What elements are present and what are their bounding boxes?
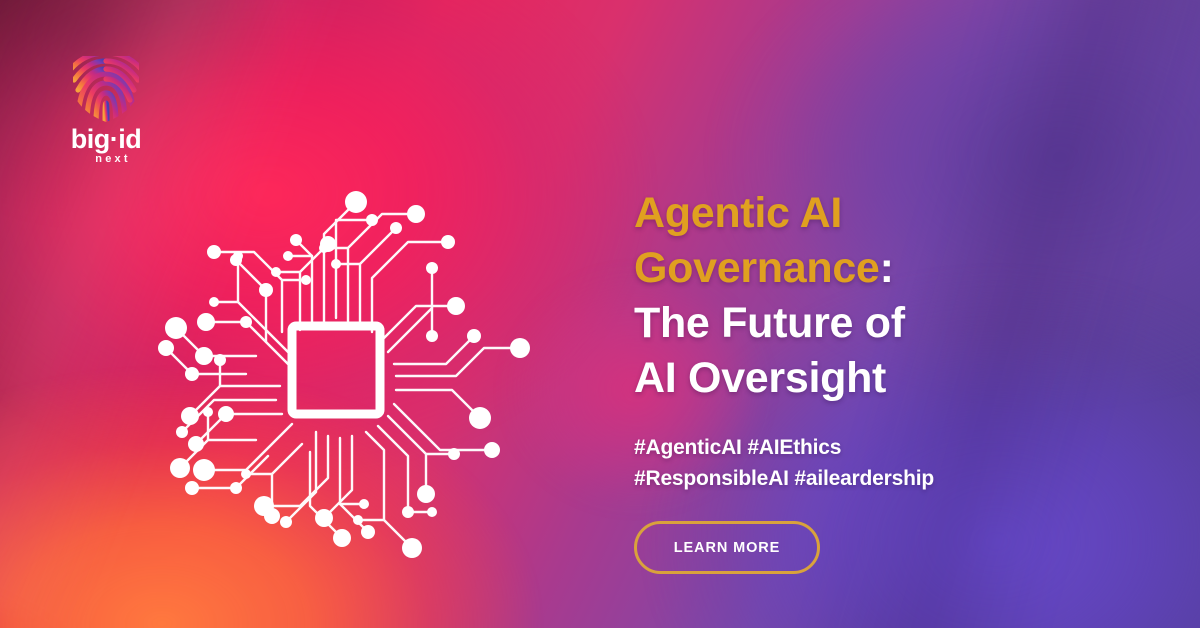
headline-line-3: The Future of bbox=[634, 296, 1104, 351]
headline-line-2: Governance: bbox=[634, 241, 1104, 296]
bigid-next-wordmark: next bbox=[48, 153, 164, 167]
social-banner: big·id next AI bbox=[0, 0, 1200, 628]
headline: Agentic AI Governance: The Future of AI … bbox=[634, 186, 1104, 406]
content-column: Agentic AI Governance: The Future of AI … bbox=[634, 186, 1104, 574]
headline-line-1-text: Agentic AI bbox=[634, 189, 842, 237]
bigid-wordmark: big·id bbox=[48, 126, 164, 153]
headline-colon: : bbox=[880, 244, 894, 292]
circuit-brain-graphic: AI bbox=[96, 160, 576, 580]
headline-line-3-text: The Future of bbox=[634, 299, 905, 347]
ai-chip-outline bbox=[292, 326, 380, 414]
headline-line-2-text: Governance bbox=[634, 244, 880, 292]
headline-line-4: AI Oversight bbox=[634, 351, 1104, 406]
learn-more-button[interactable]: LEARN MORE bbox=[634, 521, 820, 574]
bigid-logo[interactable]: big·id next bbox=[48, 52, 164, 164]
headline-line-4-text: AI Oversight bbox=[634, 354, 886, 402]
hashtag-line-1: #AgenticAI #AIEthics bbox=[634, 433, 1104, 464]
headline-line-1: Agentic AI bbox=[634, 186, 1104, 241]
hashtag-block: #AgenticAI #AIEthics #ResponsibleAI #ail… bbox=[634, 433, 1104, 494]
hashtag-line-2: #ResponsibleAI #aileardership bbox=[634, 464, 1104, 495]
bigid-fingerprint-shield-icon bbox=[68, 52, 144, 124]
circuit-brain-icon: AI bbox=[96, 160, 576, 580]
